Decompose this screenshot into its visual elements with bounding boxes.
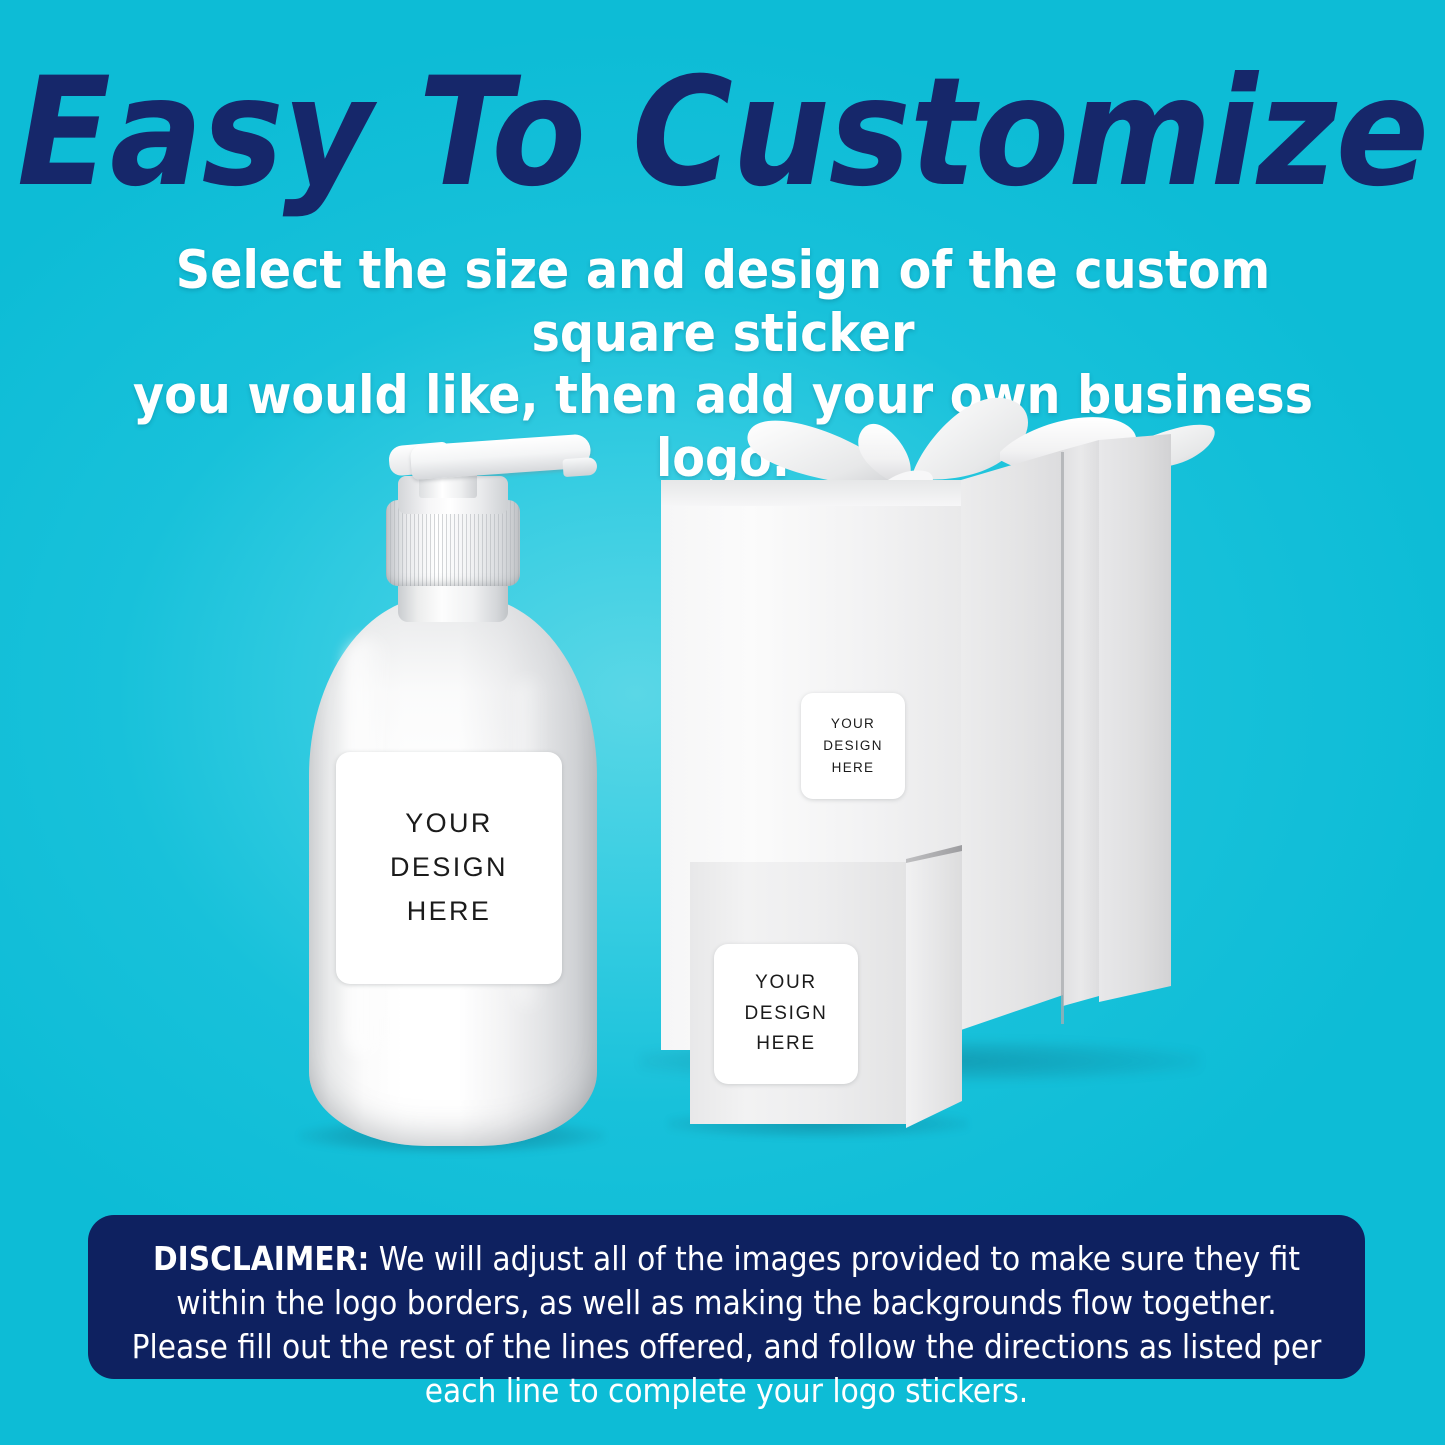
gift-box-side-face <box>961 450 1063 1030</box>
page-title: Easy To Customize <box>0 58 1445 208</box>
sticker-line-1: YOUR <box>755 968 817 998</box>
disclaimer-box: DISCLAIMER: We will adjust all of the im… <box>88 1215 1365 1379</box>
subtitle-line-1: Select the size and design of the custom… <box>112 240 1334 365</box>
disclaimer-label: DISCLAIMER: <box>153 1239 369 1278</box>
sticker-line-2: DESIGN <box>390 846 508 890</box>
gift-box-side-panel-3 <box>1099 434 1171 1034</box>
small-box-side-face <box>906 846 962 1128</box>
gift-box-side-panel-2 <box>1063 440 1099 1030</box>
sticker-line-1: YOUR <box>831 713 875 735</box>
gift-box-lid-edge <box>661 480 961 506</box>
sticker-line-3: HERE <box>832 757 875 779</box>
sticker-line-3: HERE <box>407 890 492 934</box>
promo-graphic: Easy To Customize Select the size and de… <box>0 0 1445 1445</box>
sticker-line-2: DESIGN <box>744 999 827 1029</box>
sticker-line-2: DESIGN <box>823 735 883 757</box>
sticker-on-gift-box: YOUR DESIGN HERE <box>801 693 905 799</box>
sticker-on-small-box: YOUR DESIGN HERE <box>714 944 858 1084</box>
sticker-line-3: HERE <box>756 1029 816 1059</box>
gift-box-seam <box>1061 452 1064 1024</box>
sticker-on-bottle: YOUR DESIGN HERE <box>336 752 562 984</box>
sticker-line-1: YOUR <box>405 802 493 846</box>
disclaimer-text: DISCLAIMER: We will adjust all of the im… <box>124 1237 1329 1413</box>
pump-nozzle-tip <box>562 457 597 477</box>
